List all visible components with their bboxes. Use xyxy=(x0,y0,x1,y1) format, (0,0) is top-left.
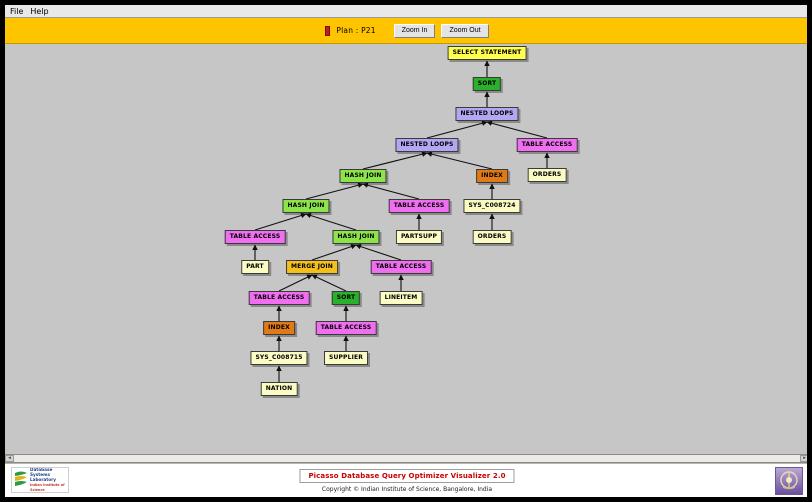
plan-node-table-access[interactable]: TABLE ACCESS xyxy=(371,260,432,274)
plan-node-partsupp[interactable]: PARTSUPP xyxy=(396,230,442,244)
plan-node-sort[interactable]: SORT xyxy=(332,291,360,305)
scrollbar-track[interactable] xyxy=(14,455,800,462)
plan-node-table-access[interactable]: TABLE ACCESS xyxy=(316,321,377,335)
plan-edge xyxy=(363,184,419,199)
plan-node-hash-join[interactable]: HASH JOIN xyxy=(282,199,329,213)
plan-tree-canvas[interactable]: SELECT STATEMENTSORTNESTED LOOPSNESTED L… xyxy=(5,44,808,454)
plan-node-nested-loops[interactable]: NESTED LOOPS xyxy=(455,107,518,121)
plan-node-orders[interactable]: ORDERS xyxy=(473,230,512,244)
plan-node-table-access[interactable]: TABLE ACCESS xyxy=(249,291,310,305)
copyright-text: Copyright © Indian Institute of Science,… xyxy=(322,486,492,493)
app-title-plate: Picasso Database Query Optimizer Visuali… xyxy=(299,469,514,483)
plan-edge xyxy=(487,122,547,138)
scroll-right-arrow-icon[interactable]: ▸ xyxy=(800,455,808,462)
plan-edge xyxy=(363,153,427,169)
plan-node-sort[interactable]: SORT xyxy=(473,77,501,91)
plan-edge xyxy=(279,275,312,291)
plan-node-lineitem[interactable]: LINEITEM xyxy=(380,291,423,305)
plan-edge xyxy=(255,214,306,230)
plan-node-select-statement[interactable]: SELECT STATEMENT xyxy=(448,46,527,60)
dsl-logo: Database Systems Laboratory Indian Insti… xyxy=(11,467,69,493)
plan-tree-edges xyxy=(5,44,808,454)
dsl-line-3: Laboratory xyxy=(30,477,56,482)
menu-item-help[interactable]: Help xyxy=(28,6,53,17)
plan-edge xyxy=(427,153,492,169)
plan-node-hash-join[interactable]: HASH JOIN xyxy=(339,169,386,183)
picasso-main-window: File Help Plan : P21 Zoom In Zoom Out SE… xyxy=(4,4,808,498)
zoom-out-button[interactable]: Zoom Out xyxy=(441,24,488,38)
horizontal-scrollbar[interactable]: ◂ ▸ xyxy=(5,454,808,463)
plan-node-sys-c008724[interactable]: SYS_C008724 xyxy=(463,199,520,213)
menu-bar: File Help xyxy=(5,5,808,18)
plan-edge xyxy=(427,122,487,138)
plan-node-table-access[interactable]: TABLE ACCESS xyxy=(517,138,578,152)
plan-edge xyxy=(312,245,356,260)
menu-item-file[interactable]: File xyxy=(8,6,28,17)
plan-edge xyxy=(356,245,401,260)
dsl-leaf-icon xyxy=(14,470,28,490)
iisc-emblem-icon xyxy=(778,470,800,492)
plan-edge xyxy=(306,214,356,230)
scroll-left-arrow-icon[interactable]: ◂ xyxy=(5,455,14,462)
plan-node-orders[interactable]: ORDERS xyxy=(528,168,567,182)
zoom-in-button[interactable]: Zoom In xyxy=(394,24,436,38)
plan-node-nation[interactable]: NATION xyxy=(261,382,298,396)
plan-node-sys-c008715[interactable]: SYS_C008715 xyxy=(250,351,307,365)
plan-node-hash-join[interactable]: HASH JOIN xyxy=(332,230,379,244)
dsl-logo-text: Database Systems Laboratory Indian Insti… xyxy=(30,467,66,493)
plan-node-table-access[interactable]: TABLE ACCESS xyxy=(225,230,286,244)
plan-node-index[interactable]: INDEX xyxy=(263,321,295,335)
plan-edge xyxy=(306,184,363,199)
plan-toolbar: Plan : P21 Zoom In Zoom Out xyxy=(5,18,808,44)
plan-node-index[interactable]: INDEX xyxy=(476,169,508,183)
footer-bar: Database Systems Laboratory Indian Insti… xyxy=(5,463,808,498)
plan-edge xyxy=(312,275,346,291)
plan-node-part[interactable]: PART xyxy=(241,260,269,274)
iisc-logo xyxy=(775,467,803,495)
plan-node-nested-loops[interactable]: NESTED LOOPS xyxy=(395,138,458,152)
plan-node-table-access[interactable]: TABLE ACCESS xyxy=(389,199,450,213)
plan-label: Plan : P21 xyxy=(336,26,375,35)
plan-color-swatch-icon xyxy=(325,26,330,36)
dsl-tagline: Indian Institute of Science xyxy=(30,483,66,493)
plan-node-supplier[interactable]: SUPPLIER xyxy=(324,351,368,365)
plan-node-merge-join[interactable]: MERGE JOIN xyxy=(286,260,338,274)
